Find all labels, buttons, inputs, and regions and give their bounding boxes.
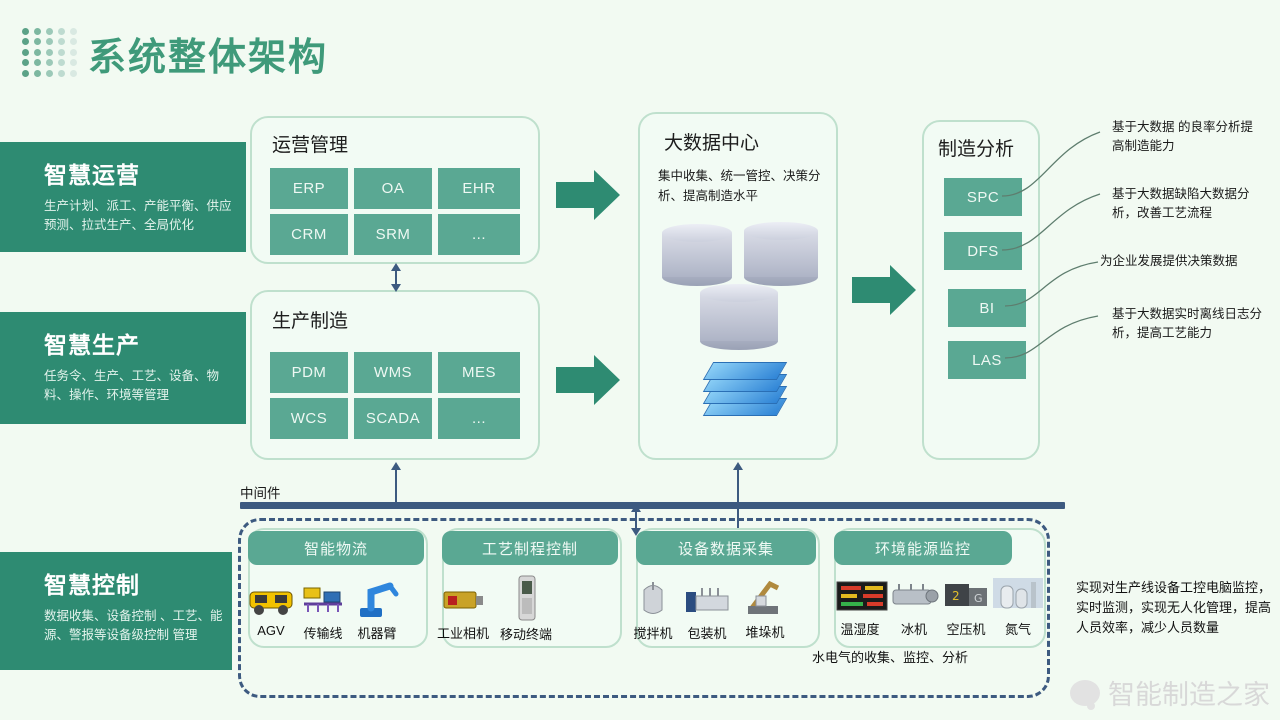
production-manufacturing-panel: 生产制造 PDM WMS MES WCS SCADA ...	[250, 290, 540, 460]
control-tab-environment[interactable]: 环境能源监控	[834, 531, 1012, 565]
database-cylinder-icon	[662, 224, 732, 286]
module-chip-erp[interactable]: ERP	[270, 168, 348, 209]
flow-arrow-bigdata-to-analysis	[852, 265, 922, 315]
device-air-compressor: 2 G 空压机	[940, 574, 992, 638]
wechat-bubble-icon	[1070, 680, 1100, 706]
device-mixer: 搅拌机	[628, 578, 678, 642]
middleware-label: 中间件	[240, 482, 281, 502]
database-cylinder-icon	[700, 284, 778, 350]
module-chip-ehr[interactable]: EHR	[438, 168, 520, 209]
module-chip-wcs[interactable]: WCS	[270, 398, 348, 439]
device-label: 温湿度	[832, 619, 888, 638]
device-conveyor: 传输线	[297, 578, 349, 642]
mobile-terminal-icon	[501, 574, 551, 616]
device-label: 机器臂	[349, 623, 405, 642]
layer-subtitle: 生产计划、派工、产能平衡、供应预测、拉式生产、全局优化	[44, 197, 234, 236]
database-cylinder-icon	[744, 222, 818, 286]
nitrogen-tank-icon	[993, 574, 1043, 616]
module-chip-wms[interactable]: WMS	[354, 352, 432, 393]
architecture-diagram: 系统整体架构 智慧运营 生产计划、派工、产能平衡、供应预测、拉式生产、全局优化 …	[0, 0, 1280, 720]
layer-title: 智慧运营	[44, 156, 246, 190]
device-agv: AGV	[245, 578, 297, 638]
module-chip-mes[interactable]: MES	[438, 352, 520, 393]
module-chip-more[interactable]: ...	[438, 398, 520, 439]
device-label: 传输线	[297, 623, 349, 642]
layer-title: 智慧生产	[44, 326, 246, 360]
mixer-machine-icon	[628, 578, 678, 620]
device-label: 包装机	[680, 623, 734, 642]
layer-band-intelligent-operation: 智慧运营 生产计划、派工、产能平衡、供应预测、拉式生产、全局优化	[0, 142, 246, 252]
device-packaging-machine: 包装机	[680, 578, 734, 642]
device-chiller: 冰机	[888, 574, 940, 638]
conveyor-line-icon	[298, 578, 348, 620]
device-robot-arm: 机器臂	[349, 578, 405, 642]
callout-text-defect-analysis: 基于大数据缺陷大数据分析，改善工艺流程	[1112, 185, 1262, 223]
stacker-crane-icon	[740, 574, 790, 616]
device-label: 堆垛机	[738, 622, 792, 641]
control-tab-process[interactable]: 工艺制程控制	[442, 531, 618, 565]
device-label: 搅拌机	[628, 623, 678, 642]
svg-text:2: 2	[952, 589, 960, 603]
panel-title: 大数据中心	[664, 128, 759, 155]
middleware-bus-bar	[240, 502, 1065, 509]
flow-arrow-operation-to-bigdata	[556, 170, 626, 220]
operation-management-panel: 运营管理 ERP OA EHR CRM SRM ...	[250, 116, 540, 264]
watermark-text: 智能制造之家	[1108, 673, 1270, 712]
module-chip-srm[interactable]: SRM	[354, 214, 432, 255]
temperature-humidity-display-icon	[835, 574, 885, 616]
device-nitrogen: 氮气	[992, 574, 1044, 638]
device-mobile-terminal: 移动终端	[498, 574, 554, 643]
panel-description: 集中收集、统一管控、决策分析、提高制造水平	[658, 166, 826, 206]
industrial-camera-icon	[438, 578, 488, 620]
control-tab-logistics[interactable]: 智能物流	[248, 531, 424, 565]
callout-connectors	[1000, 110, 1110, 390]
packaging-machine-icon	[682, 578, 732, 620]
callout-text-yield-analysis: 基于大数据 的良率分析提高制造能力	[1112, 118, 1262, 156]
device-temp-humidity: 温湿度	[832, 574, 888, 638]
page-title: 系统整体架构	[88, 26, 328, 81]
device-label: 空压机	[940, 619, 992, 638]
device-label: 工业相机	[432, 623, 494, 642]
dot-matrix-icon	[22, 28, 80, 78]
device-label: 冰机	[888, 619, 940, 638]
air-compressor-icon: 2 G	[941, 574, 991, 616]
device-industrial-camera: 工业相机	[432, 578, 494, 642]
layer-title: 智慧控制	[44, 566, 232, 600]
callout-text-log-analysis: 基于大数据实时离线日志分析，提高工艺能力	[1112, 305, 1262, 343]
layer-subtitle: 数据收集、设备控制 、工艺、能源、警报等设备级控制 管理	[44, 607, 234, 646]
layer-band-intelligent-control: 智慧控制 数据收集、设备控制 、工艺、能源、警报等设备级控制 管理	[0, 552, 232, 670]
control-note-text: 实现对生产线设备工控电脑监控，实时监测，实现无人化管理，提高人员效率，减少人员数…	[1076, 578, 1272, 638]
module-chip-crm[interactable]: CRM	[270, 214, 348, 255]
panel-title: 生产制造	[272, 306, 348, 333]
agv-vehicle-icon	[246, 578, 296, 620]
chiller-icon	[889, 574, 939, 616]
module-chip-pdm[interactable]: PDM	[270, 352, 348, 393]
watermark: 智能制造之家	[1070, 673, 1270, 712]
flow-arrow-production-to-bigdata	[556, 355, 626, 405]
layer-band-intelligent-production: 智慧生产 任务令、生产、工艺、设备、物料、操作、环境等管理	[0, 312, 246, 424]
panel-title: 运营管理	[272, 130, 348, 157]
data-stack-icon	[698, 362, 792, 424]
device-label: 氮气	[992, 619, 1044, 638]
robot-arm-icon	[352, 578, 402, 620]
bottom-note-text: 水电气的收集、监控、分析	[812, 648, 968, 668]
module-chip-scada[interactable]: SCADA	[354, 398, 432, 439]
svg-text:G: G	[974, 592, 983, 605]
callout-text-decision-data: 为企业发展提供决策数据	[1100, 252, 1275, 271]
device-label: 移动终端	[498, 624, 554, 643]
layer-subtitle: 任务令、生产、工艺、设备、物料、操作、环境等管理	[44, 367, 234, 406]
device-label: AGV	[245, 623, 297, 638]
control-tab-data-collection[interactable]: 设备数据采集	[636, 531, 816, 565]
device-stacker-crane: 堆垛机	[738, 574, 792, 641]
big-data-center-panel: 大数据中心 集中收集、统一管控、决策分析、提高制造水平	[638, 112, 838, 460]
module-chip-oa[interactable]: OA	[354, 168, 432, 209]
module-chip-more[interactable]: ...	[438, 214, 520, 255]
